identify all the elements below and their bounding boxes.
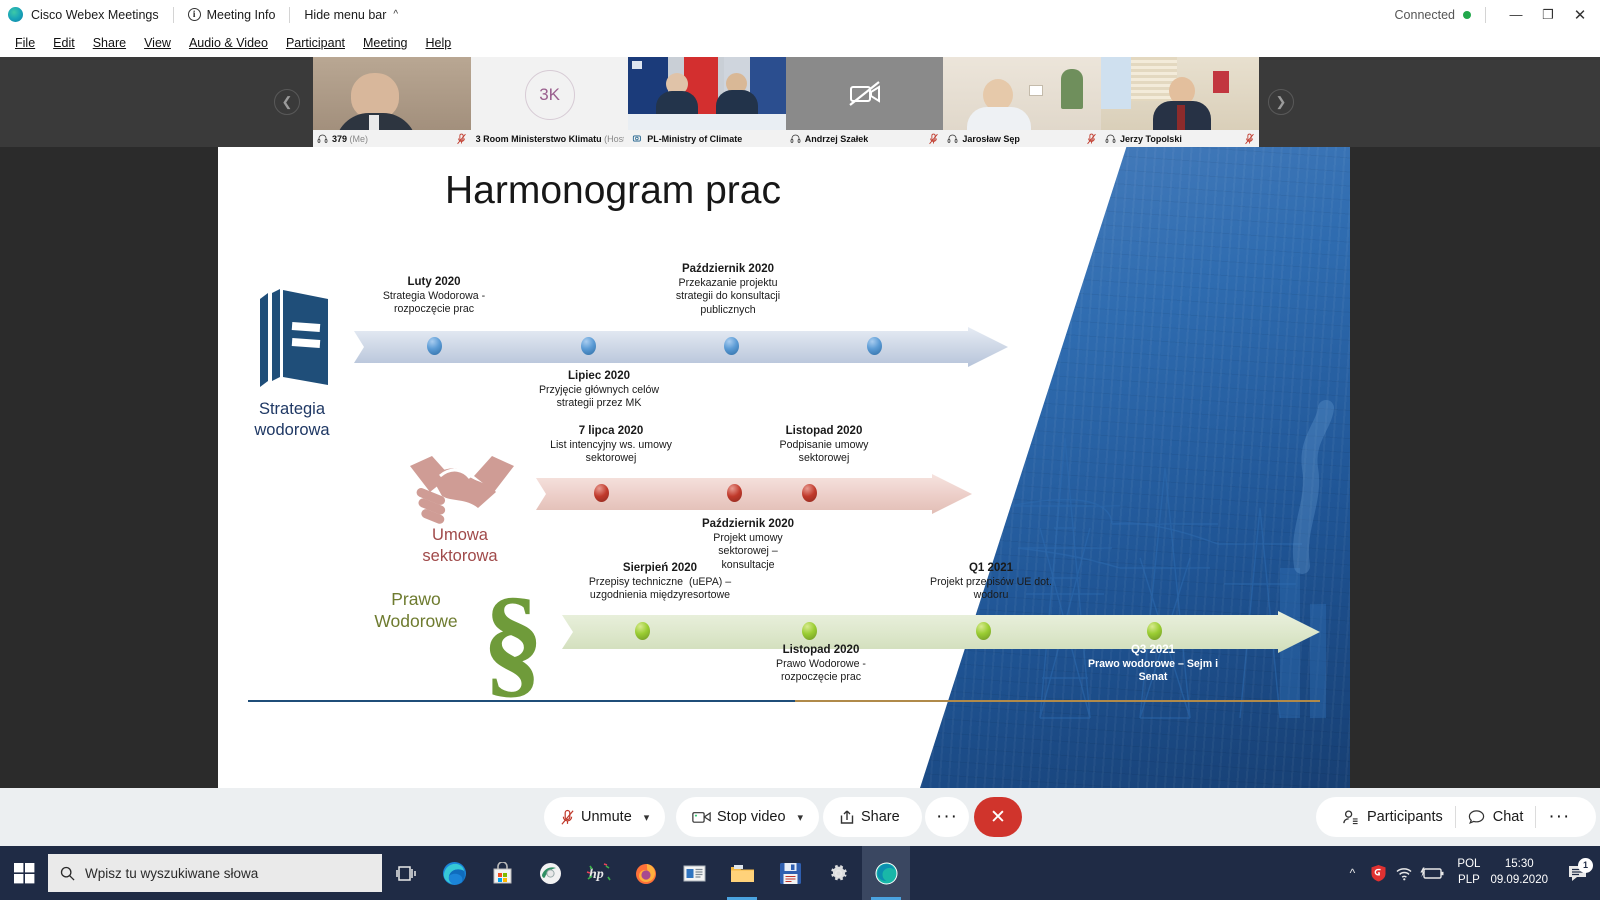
chat-label: Chat — [1493, 809, 1524, 825]
app-title: Cisco Webex Meetings — [31, 8, 159, 22]
unmute-button[interactable]: Unmute ▾ — [544, 797, 665, 837]
milestone-date: Luty 2020 — [358, 275, 510, 290]
menu-file-label: File — [15, 36, 35, 50]
participant-name-bar: Jarosław Sęp — [943, 130, 1101, 147]
participant-tile-jaroslaw-sep[interactable]: Jarosław Sęp — [943, 57, 1101, 147]
milestone-date: Listopad 2020 — [733, 643, 909, 658]
menu-edit-label: Edit — [53, 36, 75, 50]
firefox-icon[interactable] — [622, 846, 670, 900]
participant-name-suffix: (Me) — [350, 134, 369, 144]
hide-menu-bar-label: Hide menu bar — [304, 8, 386, 22]
right-controls-group: Participants Chat ··· — [1316, 797, 1596, 837]
milestone-dot — [594, 484, 609, 502]
participant-name: 379 (Me) — [332, 134, 368, 144]
presentation-slide[interactable]: Harmonogram prac Strategia wodorowa — [218, 147, 1350, 788]
participant-name-suffix: (Host) — [604, 134, 624, 144]
row-label-line2: sektorowa — [422, 547, 497, 565]
camera-icon — [692, 810, 711, 824]
participants-label: Participants — [1367, 809, 1443, 825]
settings-icon[interactable] — [814, 846, 862, 900]
filmstrip-next-button[interactable]: ❯ — [1268, 89, 1294, 115]
row-label-line1: Strategia — [259, 400, 325, 418]
muted-mic-icon — [1086, 133, 1097, 145]
hp-icon[interactable]: hp — [574, 846, 622, 900]
menu-share[interactable]: Share — [84, 33, 135, 53]
milestone-date: Październik 2020 — [664, 517, 832, 532]
muted-mic-icon — [1244, 133, 1255, 145]
webex-icon[interactable] — [862, 846, 910, 900]
divider — [173, 7, 174, 23]
footer-rule-right — [795, 700, 1320, 702]
chevron-down-icon[interactable]: ▾ — [798, 811, 804, 824]
windows-taskbar: Wpisz tu wyszukiwane słowa — [0, 846, 1600, 900]
milestone-text: Projekt przepisów UE dot.wodoru — [896, 576, 1086, 603]
milestone-note-sierpien-2020: Sierpień 2020 Przepisy techniczne (uEPA)… — [552, 561, 768, 603]
participant-name-text: Jarosław Sęp — [962, 134, 1020, 144]
muted-mic-icon — [928, 133, 939, 145]
clock-time: 15:30 — [1490, 857, 1548, 873]
language-indicator[interactable]: POL PLP — [1457, 857, 1480, 888]
menu-meeting[interactable]: Meeting — [354, 33, 416, 53]
milestone-text: Strategia Wodorowa -rozpoczęcie prac — [358, 290, 510, 317]
connection-status: Connected — [1395, 8, 1455, 22]
restore-button[interactable]: ❐ — [1532, 0, 1564, 29]
headset-icon — [1105, 134, 1116, 143]
participant-name-bar: 379 (Me) — [313, 130, 471, 147]
participant-name-bar: 3 Room Ministerstwo Klimatu (Host) — [471, 130, 629, 147]
participant-name-bar: Andrzej Szałek — [786, 130, 944, 147]
participant-name: Jarosław Sęp — [962, 134, 1020, 144]
participant-name-text: 3 Room Ministerstwo Klimatu — [476, 134, 602, 144]
milestone-date: Październik 2020 — [636, 262, 820, 277]
milestone-note-pazdziernik-2020-strategia: Październik 2020 Przekazanie projektustr… — [636, 262, 820, 317]
nero-icon[interactable] — [526, 846, 574, 900]
milestone-text: Prawo wodorowe – Sejm iSenat — [1046, 658, 1260, 685]
chat-icon — [1468, 809, 1485, 825]
row-label-line1: Umowa — [432, 526, 488, 544]
milestone-dot — [581, 337, 596, 355]
row-label-strategia-wodorowa: Strategia wodorowa — [226, 399, 358, 440]
room-device-icon — [632, 134, 643, 143]
hide-menu-bar-button[interactable]: Hide menu bar ^ — [304, 8, 398, 22]
milestone-text: Przepisy techniczne (uEPA) –uzgodnienia … — [552, 576, 768, 603]
file-explorer-icon[interactable] — [718, 846, 766, 900]
participant-name: 3 Room Ministerstwo Klimatu (Host) — [476, 134, 625, 144]
meeting-info-label: Meeting Info — [207, 8, 276, 22]
news-icon[interactable] — [670, 846, 718, 900]
milestone-text: Przyjęcie głównych celówstrategii przez … — [508, 384, 690, 411]
milestone-dot — [727, 484, 742, 502]
meeting-info-button[interactable]: i Meeting Info — [188, 8, 276, 22]
footer-rule-left — [248, 700, 795, 702]
microsoft-store-icon[interactable] — [478, 846, 526, 900]
participants-button[interactable]: Participants — [1330, 809, 1455, 825]
search-placeholder: Wpisz tu wyszukiwane słowa — [85, 866, 258, 881]
share-button[interactable]: Share — [823, 797, 922, 837]
headset-icon — [790, 134, 801, 143]
menu-edit[interactable]: Edit — [44, 33, 84, 53]
participant-tile-room[interactable]: 3K 3 Room Ministerstwo Klimatu (Host) — [471, 57, 629, 147]
antivirus-shield-icon[interactable] — [1365, 864, 1391, 882]
notification-center-button[interactable]: 1 — [1560, 864, 1594, 883]
menu-audio-video[interactable]: Audio & Video — [180, 33, 277, 53]
milestone-date: Q1 2021 — [896, 561, 1086, 576]
minimize-button[interactable]: — — [1500, 0, 1532, 29]
milestone-note-listopad-2020-prawo: Listopad 2020 Prawo Wodorowe -rozpoczęci… — [733, 643, 909, 685]
system-tray: ^ — [1339, 846, 1600, 900]
filmstrip-prev-button[interactable]: ❮ — [274, 89, 300, 115]
headset-icon — [317, 134, 328, 143]
participant-filmstrip: ❮ ❯ 379 (Me) — [0, 57, 1600, 147]
row-label-line2: Wodorowe — [374, 611, 457, 631]
milestone-date: 7 lipca 2020 — [518, 424, 704, 439]
menu-view[interactable]: View — [135, 33, 180, 53]
milestone-note-lipiec-2020: Lipiec 2020 Przyjęcie głównych celówstra… — [508, 369, 690, 411]
participant-name-text: PL-Ministry of Climate — [647, 134, 742, 144]
milestone-note-7-lipca-2020: 7 lipca 2020 List intencyjny ws. umowyse… — [518, 424, 704, 466]
background-graphic — [920, 147, 1350, 788]
headset-icon — [947, 134, 958, 143]
milestone-date: Sierpień 2020 — [552, 561, 768, 576]
participant-tile-andrzej-szalek[interactable]: Andrzej Szałek — [786, 57, 944, 147]
edge-icon[interactable] — [430, 846, 478, 900]
milestone-note-luty-2020: Luty 2020 Strategia Wodorowa -rozpoczęci… — [358, 275, 510, 317]
milestone-text: List intencyjny ws. umowysektorowej — [518, 439, 704, 466]
milestone-dot — [635, 622, 650, 640]
connection-status-dot-icon — [1463, 11, 1471, 19]
participant-name: Andrzej Szałek — [805, 134, 869, 144]
task-view-icon[interactable] — [382, 846, 430, 900]
milestone-date: Lipiec 2020 — [508, 369, 690, 384]
show-hidden-icons-icon[interactable]: ^ — [1339, 866, 1365, 880]
meeting-control-bar: Unmute ▾ Stop video ▾ Share ··· ✕ — [0, 788, 1600, 846]
battery-charging-icon[interactable] — [1417, 866, 1447, 881]
milestone-dot — [427, 337, 442, 355]
chevron-down-icon[interactable]: ▾ — [644, 811, 650, 824]
chevron-up-icon: ^ — [393, 9, 398, 20]
clock-date: 09.09.2020 — [1490, 873, 1548, 889]
milestone-dot — [802, 622, 817, 640]
language-line2: PLP — [1457, 873, 1480, 889]
participant-name-bar: PL-Ministry of Climate — [628, 130, 786, 147]
participant-name-text: 379 — [332, 134, 347, 144]
milestone-text: Przekazanie projektustrategii do konsult… — [636, 277, 820, 318]
unmute-label: Unmute — [581, 809, 632, 825]
row-label-umowa-sektorowa: Umowa sektorowa — [386, 525, 534, 566]
camera-off-icon — [848, 79, 882, 109]
participant-name-text: Jerzy Topolski — [1120, 134, 1182, 144]
menu-participant[interactable]: Participant — [277, 33, 354, 53]
paragraph-icon: § — [478, 582, 556, 700]
share-label: Share — [861, 809, 900, 825]
muted-mic-icon — [560, 809, 575, 826]
milestone-dot — [1147, 622, 1162, 640]
menu-bar: File Edit Share View Audio & Video Parti… — [0, 29, 1600, 57]
menu-help-label: Help — [425, 36, 451, 50]
close-button[interactable]: ✕ — [1564, 0, 1596, 29]
milestone-note-listopad-2020-umowa: Listopad 2020 Podpisanie umowysektorowej — [744, 424, 904, 466]
clock[interactable]: 15:30 09.09.2020 — [1490, 857, 1548, 888]
stop-video-button[interactable]: Stop video ▾ — [676, 797, 819, 837]
taskbar-icons: hp — [382, 846, 910, 900]
milestone-note-q3-2021: Q3 2021 Prawo wodorowe – Sejm iSenat — [1046, 643, 1260, 685]
page-title: Harmonogram prac — [218, 169, 1008, 213]
participant-name: Jerzy Topolski — [1120, 134, 1182, 144]
milestone-date: Q3 2021 — [1046, 643, 1260, 658]
share-icon — [839, 809, 855, 825]
notification-badge: 1 — [1578, 858, 1593, 873]
milestone-date: Listopad 2020 — [744, 424, 904, 439]
svg-text:§: § — [482, 582, 544, 700]
stop-video-label: Stop video — [717, 809, 786, 825]
milestone-dot — [867, 337, 882, 355]
menu-audio-video-label: Audio & Video — [189, 36, 268, 50]
participant-name: PL-Ministry of Climate — [647, 134, 742, 144]
milestone-dot — [976, 622, 991, 640]
menu-participant-label: Participant — [286, 36, 345, 50]
wifi-icon[interactable] — [1391, 865, 1417, 881]
participant-tile-jerzy-topolski[interactable]: Jerzy Topolski — [1101, 57, 1259, 147]
webex-meeting-window: Cisco Webex Meetings i Meeting Info Hide… — [0, 0, 1600, 900]
row-label-line1: Prawo — [391, 589, 441, 609]
participants-icon — [1342, 809, 1359, 825]
search-input[interactable]: Wpisz tu wyszukiwane słowa — [48, 854, 382, 892]
milestone-dot — [802, 484, 817, 502]
search-icon — [60, 866, 75, 881]
info-icon: i — [188, 8, 201, 21]
row-label-line2: wodorowa — [254, 421, 329, 439]
language-line1: POL — [1457, 857, 1480, 873]
title-bar: Cisco Webex Meetings i Meeting Info Hide… — [0, 0, 1600, 29]
divider — [1485, 7, 1486, 23]
milestone-dot — [724, 337, 739, 355]
end-meeting-button[interactable]: ✕ — [974, 797, 1022, 837]
shared-content-stage: Harmonogram prac Strategia wodorowa — [0, 147, 1600, 788]
row-label-prawo-wodorowe: Prawo Wodorowe — [346, 589, 486, 633]
timeline-arrow-strategia — [354, 327, 1008, 367]
handshake-icon — [408, 452, 516, 528]
participant-tile-pl-ministry-of-climate[interactable]: PL-Ministry of Climate — [628, 57, 786, 147]
divider — [289, 7, 290, 23]
menu-view-label: View — [144, 36, 171, 50]
menu-meeting-label: Meeting — [363, 36, 407, 50]
participant-name-bar: Jerzy Topolski — [1101, 130, 1259, 147]
milestone-note-q1-2021: Q1 2021 Projekt przepisów UE dot.wodoru — [896, 561, 1086, 603]
menu-file[interactable]: File — [6, 33, 44, 53]
menu-share-label: Share — [93, 36, 126, 50]
milestone-text: Podpisanie umowysektorowej — [744, 439, 904, 466]
book-icon — [250, 289, 334, 389]
muted-mic-icon — [456, 133, 467, 145]
windows-logo-icon — [14, 863, 35, 884]
save-icon[interactable] — [766, 846, 814, 900]
avatar-initials: 3K — [539, 85, 560, 105]
more-options-right-button[interactable]: ··· — [1536, 806, 1582, 828]
menu-help[interactable]: Help — [416, 33, 460, 53]
milestone-text: Prawo Wodorowe -rozpoczęcie prac — [733, 658, 909, 685]
chat-button[interactable]: Chat — [1456, 809, 1536, 825]
webex-logo-icon — [8, 7, 23, 22]
participant-name-text: Andrzej Szałek — [805, 134, 869, 144]
start-button[interactable] — [0, 846, 48, 900]
more-options-button[interactable]: ··· — [925, 797, 969, 837]
participant-tile-379[interactable]: 379 (Me) — [313, 57, 471, 147]
